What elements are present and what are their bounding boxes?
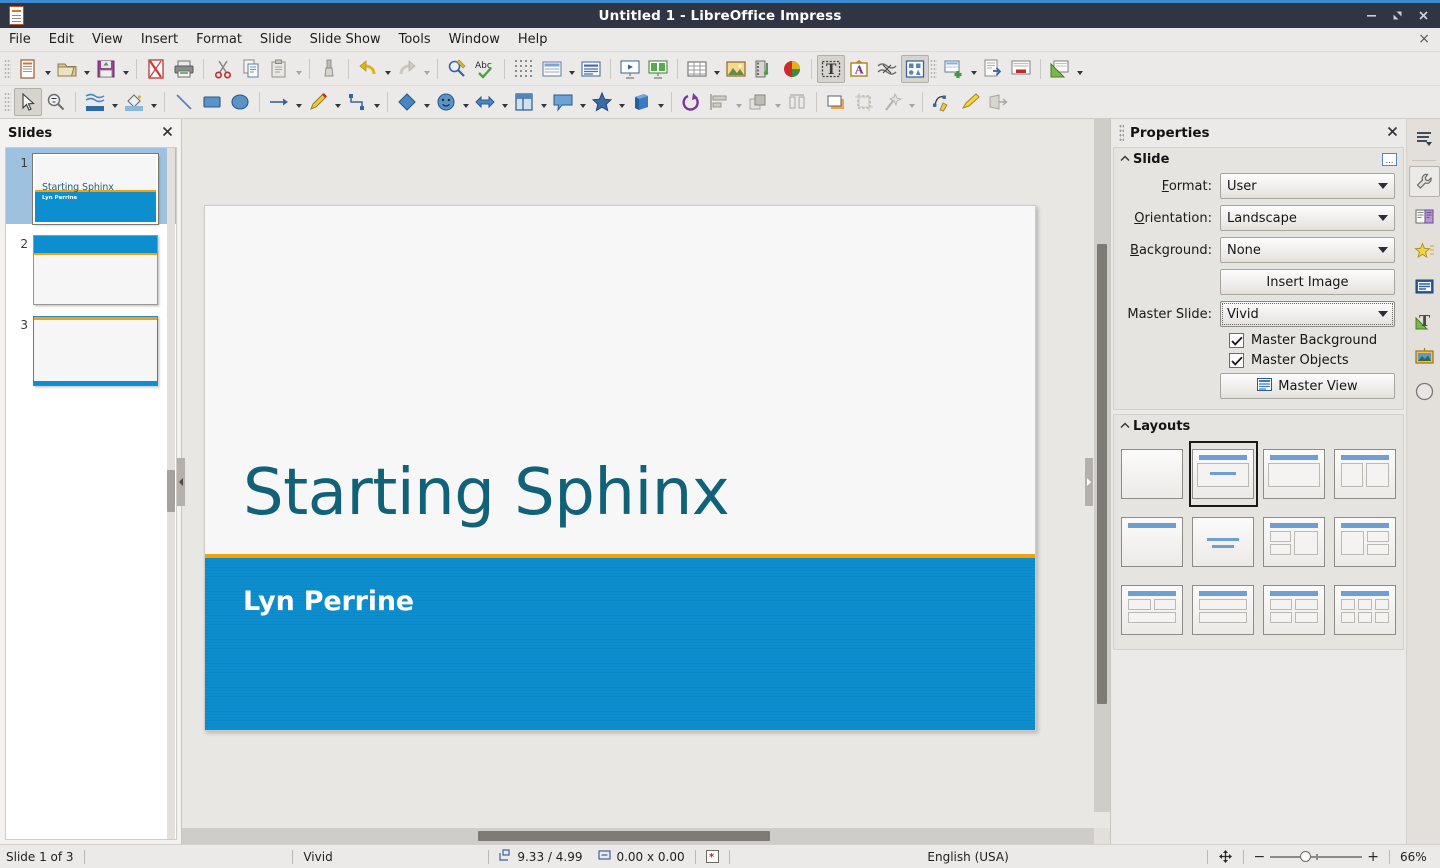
format-dropdown[interactable]: User	[1220, 173, 1395, 199]
insert-line-button[interactable]	[170, 88, 198, 116]
layout-blank[interactable]	[1118, 441, 1187, 507]
new-slide-button[interactable]	[940, 55, 968, 83]
menu-slide-show[interactable]: Slide Show	[301, 29, 390, 50]
spelling-button[interactable]: Abc	[471, 55, 499, 83]
tab-properties[interactable]	[1409, 166, 1440, 197]
object-size-value: 0.00 x 0.00	[616, 850, 684, 864]
master-background-label: Master Background	[1251, 333, 1377, 348]
insert-image-button[interactable]	[722, 55, 750, 83]
slide-position: Slide 1 of 3	[6, 850, 74, 864]
collapse-sidebar-handle[interactable]	[1085, 458, 1093, 506]
orientation-value: Landscape	[1227, 211, 1378, 226]
layout-title-only[interactable]	[1118, 509, 1187, 575]
align-objects-dropdown[interactable]	[733, 88, 744, 116]
master-view-icon	[1257, 378, 1272, 395]
glue-points-button[interactable]	[956, 88, 984, 116]
redo-dropdown[interactable]	[421, 55, 432, 83]
chevron-down-icon	[1378, 183, 1388, 189]
slides-panel: Slides 1 Starting Sphinx Lyn Perrine	[0, 119, 182, 844]
canvas-vertical-scrollbar[interactable]	[1094, 119, 1110, 812]
callout-shapes-button[interactable]	[549, 88, 577, 116]
slide-number: 2	[11, 235, 28, 251]
toolbar-separator	[922, 92, 923, 112]
chevron-down-icon	[1378, 215, 1388, 221]
toolbar-separator	[677, 59, 678, 79]
format-row: Format: User	[1122, 173, 1395, 199]
slide-accent-bottom	[34, 381, 157, 385]
layout-title-content-two[interactable]	[1330, 509, 1399, 575]
zoom-slider[interactable]: − +	[1254, 851, 1379, 863]
duplicate-slide-button[interactable]	[979, 55, 1007, 83]
insert-table-dropdown[interactable]	[711, 55, 722, 83]
sidebar-header: Properties	[1111, 119, 1406, 147]
orientation-label: Orientation:	[1122, 211, 1220, 226]
close-icon[interactable]	[162, 126, 173, 141]
sidebar-deck: Properties Slide …	[1111, 119, 1406, 844]
master-objects-label: Master Objects	[1251, 353, 1349, 368]
insert-text-box-button[interactable]: T	[817, 55, 845, 83]
layout-centered-text[interactable]	[1189, 509, 1258, 575]
slide-preview-subtitle: Lyn Perrine	[42, 195, 77, 201]
slide-properties-panel: Slide … Format: User Orientation:	[1113, 147, 1404, 410]
display-views-button[interactable]	[538, 55, 566, 83]
slide-thumbnail-1[interactable]: 1 Starting Sphinx Lyn Perrine	[6, 148, 176, 224]
chevron-down-icon	[1378, 311, 1388, 317]
layouts-panel: Layouts	[1113, 414, 1404, 650]
toolbar-separator	[1040, 59, 1041, 79]
sidebar-grip[interactable]	[1119, 124, 1124, 142]
svg-text:T: T	[1419, 312, 1431, 330]
slide-panel-body: Format: User Orientation: Landscape	[1114, 170, 1403, 409]
display-grid-button[interactable]	[510, 55, 538, 83]
print-button[interactable]	[170, 55, 198, 83]
align-objects-button[interactable]	[705, 88, 733, 116]
layout-title-content-box[interactable]	[1260, 441, 1329, 507]
scrollbar-thumb[interactable]	[167, 470, 175, 512]
layout-title-four-content[interactable]	[1260, 577, 1329, 643]
toolbar-separator	[348, 59, 349, 79]
arrange-dropdown[interactable]	[772, 88, 783, 116]
master-slide-value: Vivid	[1227, 307, 1378, 322]
menu-tools[interactable]: Tools	[390, 29, 440, 50]
insert-chart-button[interactable]	[778, 55, 806, 83]
chevron-up-icon[interactable]	[1120, 421, 1133, 432]
title-bar: Untitled 1 - LibreOffice Impress	[0, 0, 1440, 28]
divider	[729, 850, 730, 864]
master-background-checkbox[interactable]	[1229, 333, 1244, 348]
toolbar-separator	[811, 59, 812, 79]
layout-title-two-over-one[interactable]	[1118, 577, 1187, 643]
line-color-dropdown[interactable]	[109, 88, 120, 116]
clone-formatting-button[interactable]	[315, 55, 343, 83]
format-value: User	[1227, 179, 1378, 194]
toolbar-separator	[203, 59, 204, 79]
new-document-dropdown[interactable]	[42, 55, 53, 83]
cut-button[interactable]	[209, 55, 237, 83]
slide-title-text[interactable]: Starting Sphinx	[243, 461, 729, 525]
chevron-down-icon	[1378, 247, 1388, 253]
zoom-out-button[interactable]: −	[1254, 851, 1266, 863]
cursor-position: 9.33 / 4.99	[499, 849, 582, 864]
open-dropdown[interactable]	[81, 55, 92, 83]
layouts-panel-header[interactable]: Layouts	[1114, 415, 1403, 437]
block-arrows-dropdown[interactable]	[499, 88, 510, 116]
curves-and-polygons-button[interactable]	[304, 88, 332, 116]
master-view-label: Master View	[1278, 379, 1357, 394]
toolbar-separator	[164, 92, 165, 112]
line-color-button[interactable]	[81, 88, 109, 116]
divider	[1243, 850, 1244, 864]
scrollbar-corner	[1094, 828, 1110, 844]
more-options-icon[interactable]: …	[1382, 153, 1397, 166]
language[interactable]: English (USA)	[927, 850, 1008, 864]
divider	[84, 850, 85, 864]
zoom-and-pan-button[interactable]	[42, 88, 70, 116]
master-slide-dropdown[interactable]: Vivid	[1220, 301, 1395, 327]
zoom-level[interactable]: 66%	[1400, 850, 1434, 864]
slide-edit-area: Starting Sphinx Lyn Perrine	[182, 119, 1110, 844]
show-draw-functions-button[interactable]	[901, 55, 929, 83]
sidebar-tab-rail: T	[1406, 119, 1440, 844]
master-slide-row: Master Slide: Vivid	[1122, 301, 1395, 327]
svg-text:*: *	[709, 852, 715, 863]
ellipse-button[interactable]	[226, 88, 254, 116]
menu-insert[interactable]: Insert	[132, 29, 187, 50]
position-icon	[499, 849, 512, 864]
slide-thumbnail-3[interactable]: 3	[6, 305, 176, 386]
tab-gallery[interactable]	[1409, 341, 1440, 372]
tab-styles[interactable]	[1409, 271, 1440, 302]
slides-panel-header: Slides	[0, 119, 181, 147]
collapse-slides-panel-handle[interactable]	[177, 458, 185, 506]
3d-objects-dropdown[interactable]	[655, 88, 666, 116]
slide-thumbnail-2[interactable]: 2	[6, 224, 176, 305]
scrollbar-thumb[interactable]	[1097, 244, 1107, 704]
minimize-icon[interactable]	[1358, 4, 1384, 28]
connectors-button[interactable]	[343, 88, 371, 116]
impress-document-icon	[5, 5, 31, 27]
filter-button[interactable]	[878, 88, 906, 116]
divider	[1389, 850, 1390, 864]
select-button[interactable]	[14, 88, 42, 116]
layout-title-content[interactable]	[1189, 441, 1258, 507]
insert-image-row: Insert Image	[1122, 269, 1395, 295]
orientation-row: Orientation: Landscape	[1122, 205, 1395, 231]
slide-accent-top	[34, 317, 157, 320]
open-button[interactable]	[53, 55, 81, 83]
slide-layout-dropdown[interactable]	[1074, 55, 1085, 83]
orientation-dropdown[interactable]: Landscape	[1220, 205, 1395, 231]
start-from-first-slide-button[interactable]	[616, 55, 644, 83]
object-size: 0.00 x 0.00	[598, 849, 684, 864]
undo-dropdown[interactable]	[382, 55, 393, 83]
layout-title-two-rows[interactable]	[1189, 577, 1258, 643]
tab-animation[interactable]	[1409, 236, 1440, 267]
basic-shapes-button[interactable]	[393, 88, 421, 116]
toolbar-separator	[387, 92, 388, 112]
cursor-position-value: 9.33 / 4.99	[517, 850, 582, 864]
copy-button[interactable]	[237, 55, 265, 83]
stars-and-banners-button[interactable]	[588, 88, 616, 116]
menu-file[interactable]: File	[0, 29, 40, 50]
master-objects-row[interactable]: Master Objects	[1122, 353, 1395, 368]
close-icon[interactable]	[1387, 126, 1398, 141]
sidebar-title: Properties	[1130, 125, 1210, 141]
slide-subtitle-band: Lyn Perrine	[205, 554, 1035, 730]
layout-title-two-content[interactable]	[1330, 441, 1399, 507]
svg-text:T: T	[826, 62, 837, 78]
slide-panel-header[interactable]: Slide …	[1114, 148, 1403, 170]
points-button[interactable]	[928, 88, 956, 116]
toolbar-grip[interactable]	[930, 59, 937, 79]
scrollbar-thumb[interactable]	[478, 831, 770, 841]
find-and-replace-button[interactable]	[443, 55, 471, 83]
slide-number: 3	[11, 316, 28, 332]
background-row: Background: None	[1122, 237, 1395, 263]
toolbar-separator	[75, 92, 76, 112]
background-label: Background:	[1122, 243, 1220, 258]
menu-slide[interactable]: Slide	[251, 29, 301, 50]
redo-button[interactable]	[393, 55, 421, 83]
slide-band	[34, 236, 157, 255]
master-background-row[interactable]: Master Background	[1122, 333, 1395, 348]
curves-and-polygons-dropdown[interactable]	[332, 88, 343, 116]
paste-dropdown[interactable]	[293, 55, 304, 83]
delete-slide-button[interactable]	[1007, 55, 1035, 83]
fill-color-dropdown[interactable]	[148, 88, 159, 116]
divider	[1207, 850, 1208, 864]
size-icon	[598, 849, 611, 864]
menu-edit[interactable]: Edit	[40, 29, 83, 50]
chevron-up-icon[interactable]	[1120, 154, 1133, 165]
insert-fontwork-button[interactable]: A	[845, 55, 873, 83]
format-label: Format:	[1122, 179, 1220, 194]
insert-image-button[interactable]: Insert Image	[1220, 269, 1395, 295]
menu-window[interactable]: Window	[440, 29, 509, 50]
shadow-button[interactable]	[822, 88, 850, 116]
3d-objects-button[interactable]	[627, 88, 655, 116]
toolbar-separator	[437, 59, 438, 79]
menu-bar: File Edit View Insert Format Slide Slide…	[0, 28, 1440, 52]
menu-help[interactable]: Help	[509, 29, 557, 50]
close-document-icon[interactable]: ×	[1418, 32, 1430, 46]
zoom-knob[interactable]	[1300, 851, 1311, 862]
toolbar-separator	[610, 59, 611, 79]
insert-special-character-button[interactable]	[873, 55, 901, 83]
menu-view[interactable]: View	[83, 29, 132, 50]
start-from-current-slide-button[interactable]	[644, 55, 672, 83]
save-button[interactable]	[92, 55, 120, 83]
layouts-panel-label: Layouts	[1133, 419, 1190, 434]
undo-button[interactable]	[354, 55, 382, 83]
tab-master-slides[interactable]	[1409, 201, 1440, 232]
divider	[695, 850, 696, 864]
zoom-in-button[interactable]: +	[1367, 851, 1379, 863]
symbol-shapes-dropdown[interactable]	[460, 88, 471, 116]
fill-color-button[interactable]	[120, 88, 148, 116]
slides-panel-scrollbar[interactable]	[167, 148, 175, 839]
callout-shapes-dropdown[interactable]	[577, 88, 588, 116]
paste-button[interactable]	[265, 55, 293, 83]
layout-title-six-content[interactable]	[1330, 577, 1399, 643]
export-pdf-button[interactable]	[142, 55, 170, 83]
slide-preview-title: Starting Sphinx	[42, 182, 114, 193]
window-title: Untitled 1 - LibreOffice Impress	[0, 8, 1440, 24]
slides-panel-title: Slides	[8, 126, 52, 141]
master-objects-checkbox[interactable]	[1229, 353, 1244, 368]
toolbar-separator	[816, 92, 817, 112]
tab-character[interactable]: T	[1409, 306, 1440, 337]
filter-dropdown[interactable]	[906, 88, 917, 116]
new-document-button[interactable]	[14, 55, 42, 83]
impress-window: Untitled 1 - LibreOffice Impress File Ed…	[0, 0, 1440, 868]
toolbar-grip[interactable]	[4, 92, 11, 112]
slide-subtitle-text[interactable]: Lyn Perrine	[243, 586, 414, 617]
insert-table-button[interactable]	[683, 55, 711, 83]
flowchart-shapes-dropdown[interactable]	[538, 88, 549, 116]
slide-preview[interactable]	[33, 235, 158, 305]
block-arrows-button[interactable]	[471, 88, 499, 116]
insert-audio-video-button[interactable]	[750, 55, 778, 83]
toolbar-separator	[504, 59, 505, 79]
restore-icon[interactable]	[1384, 4, 1410, 28]
arrange-button[interactable]	[744, 88, 772, 116]
flowchart-shapes-button[interactable]	[510, 88, 538, 116]
sidebar: Properties Slide …	[1110, 119, 1440, 844]
stars-and-banners-dropdown[interactable]	[616, 88, 627, 116]
toolbar-separator	[136, 59, 137, 79]
background-dropdown[interactable]: None	[1220, 237, 1395, 263]
slide-layout-button[interactable]	[1046, 55, 1074, 83]
divider	[488, 850, 489, 864]
status-bar: Slide 1 of 3 Vivid 9.33 / 4.99 0.00 x 0.…	[0, 844, 1440, 868]
fit-slide-icon[interactable]	[1218, 849, 1233, 864]
toggle-extrusion-button[interactable]	[984, 88, 1012, 116]
canvas-viewport[interactable]: Starting Sphinx Lyn Perrine	[182, 119, 1110, 828]
save-dropdown[interactable]	[120, 55, 131, 83]
background-value: None	[1227, 243, 1378, 258]
canvas-horizontal-scrollbar[interactable]	[182, 828, 1094, 844]
master-slide-label: Master Slide:	[1122, 307, 1220, 322]
master-view-row: Master View	[1122, 373, 1395, 399]
divider	[1412, 160, 1436, 161]
modified-icon[interactable]: *	[706, 850, 719, 863]
master-slide-name: Vivid	[303, 850, 478, 864]
close-icon[interactable]	[1410, 4, 1436, 28]
menu-format[interactable]: Format	[187, 29, 251, 50]
slide-preview[interactable]: Starting Sphinx Lyn Perrine	[33, 154, 158, 224]
toolbar-separator	[309, 59, 310, 79]
drawing-toolbar	[0, 86, 1440, 119]
master-view-button[interactable]: Master View	[1220, 373, 1395, 399]
standard-toolbar: Abc T A	[0, 52, 1440, 86]
toolbar-grip[interactable]	[4, 59, 11, 79]
basic-shapes-dropdown[interactable]	[421, 88, 432, 116]
zoom-track[interactable]	[1270, 856, 1362, 858]
rectangle-button[interactable]	[198, 88, 226, 116]
slide-canvas[interactable]: Starting Sphinx Lyn Perrine	[204, 205, 1036, 731]
connectors-dropdown[interactable]	[371, 88, 382, 116]
toolbar-separator	[259, 92, 260, 112]
workspace: Slides 1 Starting Sphinx Lyn Perrine	[0, 119, 1440, 844]
tab-navigator[interactable]	[1409, 376, 1440, 407]
lines-and-arrows-button[interactable]	[265, 88, 293, 116]
zoom-tick-100	[1316, 854, 1318, 860]
crop-image-button[interactable]	[850, 88, 878, 116]
slide-preview[interactable]	[33, 316, 158, 386]
display-views-dropdown[interactable]	[566, 55, 577, 83]
symbol-shapes-button[interactable]	[432, 88, 460, 116]
slides-list[interactable]: 1 Starting Sphinx Lyn Perrine 2	[5, 147, 177, 840]
divider	[292, 850, 293, 864]
rotate-button[interactable]	[677, 88, 705, 116]
new-slide-dropdown[interactable]	[968, 55, 979, 83]
slide-number: 1	[11, 154, 28, 170]
layouts-grid	[1114, 437, 1403, 649]
lines-and-arrows-dropdown[interactable]	[293, 88, 304, 116]
master-slide-button[interactable]	[577, 55, 605, 83]
window-controls	[1358, 4, 1440, 28]
sidebar-settings-icon[interactable]	[1409, 123, 1440, 154]
toolbar-separator	[671, 92, 672, 112]
svg-text:A: A	[854, 63, 864, 76]
layout-title-two-content-plus[interactable]	[1260, 509, 1329, 575]
slide-panel-label: Slide	[1133, 152, 1169, 167]
distribute-selection-button[interactable]	[783, 88, 811, 116]
